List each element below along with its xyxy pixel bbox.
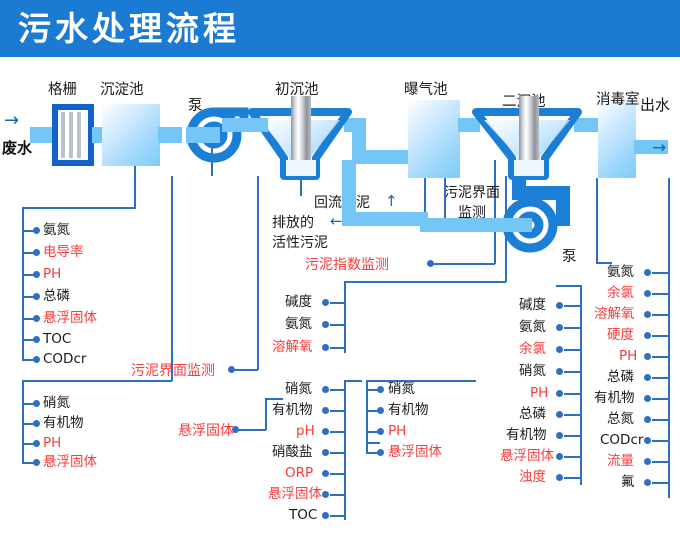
param-1: 有机物 — [272, 403, 313, 417]
note-discharged-1: 排放的 — [272, 216, 314, 231]
param-1: 氨氮 — [519, 320, 546, 334]
branch-dot — [556, 411, 563, 418]
branch — [652, 398, 670, 400]
branch-dot — [322, 407, 329, 414]
branch-dot — [556, 302, 563, 309]
equipment-label-pump-1: 泵 — [188, 94, 203, 115]
aeration-tank — [408, 100, 460, 178]
equipment-label-aeration: 曝气池 — [404, 78, 448, 99]
branch — [564, 393, 582, 395]
disinfection-room — [598, 100, 636, 178]
branch — [652, 440, 670, 442]
pipe-to-aeration — [352, 150, 412, 164]
param-3: 硝酸盐 — [272, 445, 313, 459]
group-stem — [22, 207, 136, 209]
branch-dot — [644, 353, 651, 360]
drop-line-sed — [211, 143, 213, 176]
pipe-secondary-out — [574, 118, 598, 132]
branch — [330, 515, 346, 517]
param-1: 有机物 — [388, 403, 429, 417]
param-3: 悬浮固体 — [43, 455, 97, 469]
param-2: PH — [43, 267, 61, 281]
param-4: ORP — [285, 466, 313, 480]
branch — [330, 452, 346, 454]
branch — [366, 442, 380, 444]
inlet-arrow-icon: → — [4, 110, 19, 131]
param-4: PH — [619, 349, 637, 363]
branch — [330, 302, 346, 304]
branch — [652, 377, 670, 379]
branch-dot — [322, 512, 329, 519]
note-line — [265, 398, 283, 400]
note-line — [433, 263, 495, 265]
branch-dot — [322, 321, 329, 328]
branch-dot — [644, 374, 651, 381]
param-2: 溶解氧 — [272, 340, 313, 354]
group-stem — [556, 285, 582, 287]
group-stem — [344, 281, 506, 283]
branch-dot — [644, 479, 651, 486]
note-line — [238, 429, 266, 431]
group-stem — [171, 176, 173, 381]
branch-dot — [556, 453, 563, 460]
param-0: 硝氮 — [388, 382, 415, 396]
pipe-sed-to-pump — [158, 127, 182, 143]
pipe-return-leg — [342, 212, 428, 226]
branch — [330, 494, 346, 496]
branch-dot — [33, 356, 40, 363]
branch-dot — [322, 386, 329, 393]
param-3: 硬度 — [607, 328, 634, 342]
param-6: TOC — [289, 508, 317, 522]
drop-line-grating — [134, 166, 136, 208]
branch-dot — [556, 390, 563, 397]
branch — [652, 356, 670, 358]
branch-dot — [377, 428, 384, 435]
inlet-label: 废水 — [2, 137, 32, 158]
drop-line-aeration-2 — [444, 178, 446, 218]
param-2: pH — [296, 424, 315, 438]
discharge-arrow-icon: ← — [330, 214, 343, 229]
grating-bar — [69, 112, 73, 158]
group-spine — [344, 281, 346, 353]
param-7: 总氮 — [607, 412, 634, 426]
branch-dot — [322, 449, 329, 456]
branch — [330, 431, 346, 433]
note-discharged-2: 活性污泥 — [272, 236, 328, 251]
param-8: CODcr — [600, 433, 643, 447]
branch-dot — [33, 271, 40, 278]
branch — [652, 482, 670, 484]
sedimentation-tank — [102, 104, 160, 166]
param-1: 电导率 — [43, 245, 84, 259]
note-line — [494, 160, 496, 264]
param-2: 溶解氧 — [594, 307, 635, 321]
branch-dot — [322, 491, 329, 498]
param-3: 硝氮 — [519, 364, 546, 378]
branch — [330, 473, 346, 475]
branch-dot — [33, 400, 40, 407]
branch — [330, 410, 346, 412]
drop-line-primary — [300, 176, 302, 196]
branch — [564, 305, 582, 307]
page-title: 污水处理流程 — [18, 7, 240, 50]
branch-dot — [556, 432, 563, 439]
param-5: 总磷 — [519, 407, 546, 421]
param-5: 悬浮固体 — [268, 487, 322, 501]
param-5: TOC — [43, 332, 71, 346]
param-1: 有机物 — [43, 416, 84, 430]
branch-dot — [644, 437, 651, 444]
branch-dot — [556, 368, 563, 375]
group-stem — [366, 380, 476, 382]
param-4: 悬浮固体 — [43, 311, 97, 325]
branch — [652, 314, 670, 316]
note-sludge-interface-monitor: 污泥界面监测 — [131, 364, 215, 379]
branch-dot — [33, 293, 40, 300]
branch — [330, 324, 346, 326]
branch-dot — [33, 420, 40, 427]
pipe-sludge-to-pump — [556, 186, 570, 226]
param-6: 有机物 — [594, 391, 635, 405]
param-0: 硝氮 — [285, 382, 312, 396]
title-bar: 污水处理流程 — [0, 0, 680, 57]
pipe-aeration-out — [458, 118, 480, 132]
branch-dot — [322, 428, 329, 435]
note-sludge-index-monitor: 污泥指数监测 — [305, 258, 389, 273]
pipe-pump-to-primary — [246, 118, 268, 132]
outlet-label: 出水 — [640, 94, 670, 115]
grating-bar — [61, 112, 65, 158]
param-6: 有机物 — [506, 428, 547, 442]
group-spine — [668, 178, 670, 498]
param-2: 余氯 — [519, 342, 546, 356]
branch-dot — [33, 227, 40, 234]
branch-dot — [322, 344, 329, 351]
param-2: PH — [43, 436, 61, 450]
branch-dot — [33, 336, 40, 343]
branch-dot — [644, 311, 651, 318]
branch-dot — [377, 407, 384, 414]
branch — [564, 435, 582, 437]
group-spine — [22, 380, 24, 462]
group-spine — [580, 285, 582, 485]
branch-dot — [644, 290, 651, 297]
note-sludge-interface-1: 污泥界面 — [444, 186, 500, 201]
param-2: PH — [388, 424, 406, 438]
branch — [564, 456, 582, 458]
branch — [564, 371, 582, 373]
branch-dot — [556, 324, 563, 331]
return-sludge-arrow-icon: ↑ — [385, 194, 398, 209]
branch — [652, 461, 670, 463]
branch — [330, 389, 346, 391]
param-8: 浊度 — [519, 470, 546, 484]
equipment-label-disinfection: 消毒室 — [596, 88, 640, 109]
param-9: 流量 — [607, 454, 634, 468]
branch-dot — [556, 474, 563, 481]
pipe-return-sludge — [420, 218, 532, 232]
branch-dot — [377, 386, 384, 393]
param-4: PH — [530, 386, 548, 400]
branch — [564, 414, 582, 416]
param-6: CODcr — [43, 352, 86, 366]
branch-dot — [644, 269, 651, 276]
param-0: 碱度 — [519, 298, 546, 312]
branch-dot — [322, 470, 329, 477]
branch — [652, 335, 670, 337]
param-0: 硝氮 — [43, 396, 70, 410]
branch-dot — [644, 458, 651, 465]
branch-dot — [33, 440, 40, 447]
equipment-label-pump-2: 泵 — [562, 245, 577, 266]
param-0: 氨氮 — [43, 223, 70, 237]
primary-clarifier-hopper — [286, 160, 316, 176]
param-3: 总磷 — [43, 289, 70, 303]
branch-dot — [644, 332, 651, 339]
param-1: 余氯 — [607, 286, 634, 300]
branch-dot — [644, 416, 651, 423]
group-stem — [22, 380, 172, 382]
branch-dot — [33, 459, 40, 466]
branch — [564, 327, 582, 329]
param-0: 碱度 — [285, 295, 312, 309]
param-1: 氨氮 — [285, 317, 312, 331]
group-stem — [596, 178, 598, 264]
branch — [652, 272, 670, 274]
outlet-arrow-icon: → — [652, 138, 666, 158]
param-7: 悬浮固体 — [500, 449, 554, 463]
note-line — [257, 176, 259, 370]
branch — [652, 419, 670, 421]
secondary-clarifier-hopper — [514, 160, 544, 176]
param-3: 悬浮固体 — [388, 445, 442, 459]
branch — [330, 347, 346, 349]
note-suspended-solids: 悬浮固体 — [178, 424, 234, 439]
param-10: 氟 — [621, 475, 635, 489]
branch — [652, 293, 670, 295]
equipment-label-grating: 格栅 — [48, 78, 77, 99]
note-line — [265, 398, 267, 430]
branch-dot — [33, 249, 40, 256]
branch-dot — [33, 315, 40, 322]
grating-bar — [77, 112, 81, 158]
equipment-label-sedimentation: 沉淀池 — [100, 78, 144, 99]
branch — [564, 477, 582, 479]
branch-dot — [322, 299, 329, 306]
note-line — [234, 369, 258, 371]
branch-dot — [556, 346, 563, 353]
branch — [366, 452, 380, 454]
branch — [564, 349, 582, 351]
pump-1-inlet-pipe — [186, 127, 220, 143]
branch-dot — [644, 395, 651, 402]
group-stem — [344, 380, 362, 382]
param-5: 总磷 — [607, 370, 634, 384]
param-0: 氨氮 — [607, 265, 634, 279]
group-spine — [344, 380, 346, 520]
